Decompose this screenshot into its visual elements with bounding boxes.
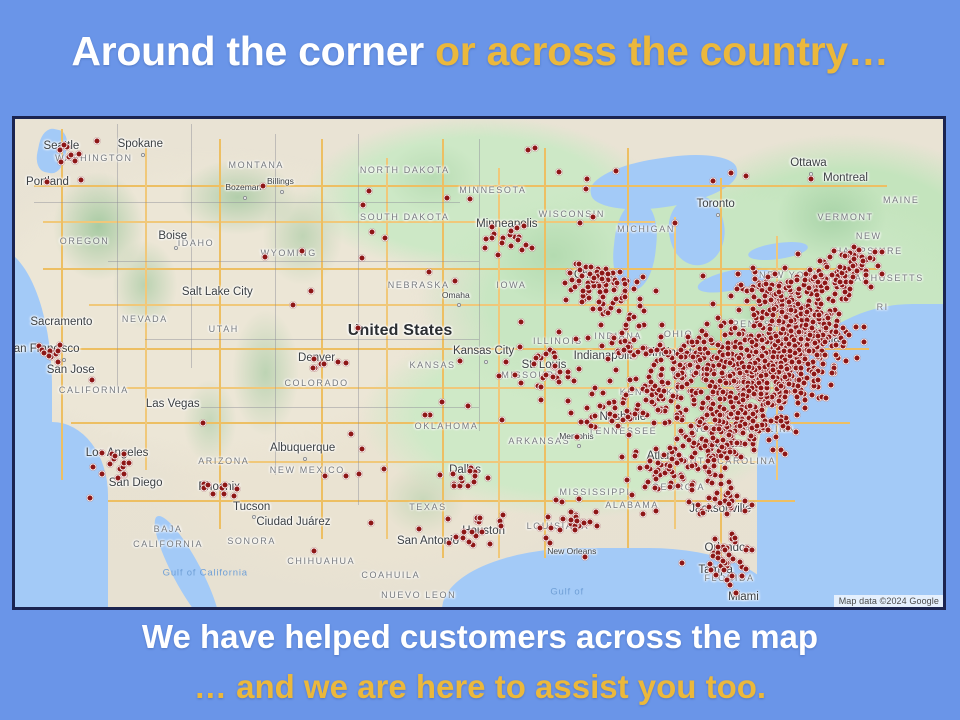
customer-pin — [653, 288, 660, 295]
customer-pin — [613, 366, 620, 373]
customer-pin — [742, 507, 749, 514]
customer-pin — [717, 322, 724, 329]
customer-pin — [737, 423, 744, 430]
customer-pin — [840, 338, 847, 345]
google-map[interactable]: WASHINGTONOREGONIDAHOMONTANAWYOMINGNEVAD… — [15, 119, 943, 607]
customer-pin — [556, 368, 563, 375]
customer-pin — [674, 404, 681, 411]
customer-pin — [645, 478, 652, 485]
customer-pin — [648, 398, 655, 405]
customer-pin — [657, 342, 664, 349]
customer-pin — [713, 355, 720, 362]
customer-pin — [853, 355, 860, 362]
customer-pin — [641, 308, 648, 315]
customer-pin — [782, 393, 789, 400]
customer-pin — [634, 349, 641, 356]
customer-pin — [581, 553, 588, 560]
customer-pin — [711, 536, 718, 543]
customer-pin — [815, 376, 822, 383]
customer-pin — [822, 324, 829, 331]
customer-pin — [712, 572, 719, 579]
customer-pin — [675, 452, 682, 459]
customer-pin — [813, 291, 820, 298]
customer-pin — [749, 286, 756, 293]
customer-pin — [710, 457, 717, 464]
customer-pin — [750, 264, 757, 271]
customer-pin — [261, 254, 268, 261]
customer-pin — [521, 222, 528, 229]
customer-pin — [636, 296, 643, 303]
customer-pin — [723, 455, 730, 462]
customer-pin — [748, 433, 755, 440]
customer-pin — [673, 460, 680, 467]
customer-pin — [426, 268, 433, 275]
customer-pin — [644, 387, 651, 394]
customer-pin — [795, 301, 802, 308]
customer-pin — [320, 360, 327, 367]
customer-pin — [726, 359, 733, 366]
customer-pin — [687, 422, 694, 429]
customer-pin — [686, 498, 693, 505]
customer-pin — [878, 271, 885, 278]
customer-pin — [792, 388, 799, 395]
customer-pin — [721, 567, 728, 574]
customer-pin — [592, 384, 599, 391]
customer-pin — [719, 557, 726, 564]
customer-pin — [452, 278, 459, 285]
customer-pin — [696, 357, 703, 364]
customer-pin — [702, 443, 709, 450]
customer-pin — [717, 396, 724, 403]
customer-pin — [710, 435, 717, 442]
customer-pin — [674, 414, 681, 421]
customer-pin — [816, 311, 823, 318]
customer-pin — [613, 168, 620, 175]
customer-pin — [762, 280, 769, 287]
customer-pin — [715, 314, 722, 321]
customer-pin — [524, 146, 531, 153]
customer-pin — [657, 393, 664, 400]
customer-pin — [778, 308, 785, 315]
customer-pin — [576, 277, 583, 284]
customer-pin — [796, 286, 803, 293]
customer-pin — [484, 474, 491, 481]
customer-pin — [555, 168, 562, 175]
customer-pin — [773, 332, 780, 339]
customer-pin — [611, 413, 618, 420]
customer-pin — [821, 351, 828, 358]
customer-pin — [786, 347, 793, 354]
customer-pin — [583, 404, 590, 411]
customer-pin — [575, 260, 582, 267]
customer-pin — [636, 322, 643, 329]
customer-pin — [77, 177, 84, 184]
customer-pin — [577, 220, 584, 227]
customer-pin — [488, 224, 495, 231]
customer-pin — [642, 396, 649, 403]
customer-pin — [543, 534, 550, 541]
customer-pin — [734, 439, 741, 446]
customer-pin — [815, 333, 822, 340]
customer-pin — [702, 464, 709, 471]
customer-pin — [517, 380, 524, 387]
customer-pin — [767, 296, 774, 303]
customer-pin — [745, 353, 752, 360]
customer-pin — [875, 262, 882, 269]
customer-pin — [555, 329, 562, 336]
customer-pin — [827, 254, 834, 261]
customer-pin — [786, 299, 793, 306]
customer-pin — [107, 461, 114, 468]
customer-pin — [778, 418, 785, 425]
customer-pin — [809, 319, 816, 326]
customer-pin — [234, 486, 241, 493]
customer-pin — [598, 322, 605, 329]
customer-pin — [806, 267, 813, 274]
customer-pin — [335, 359, 342, 366]
customer-pin — [742, 566, 749, 573]
customer-pin — [651, 420, 658, 427]
customer-pin — [453, 534, 460, 541]
customer-pin — [748, 547, 755, 554]
page-title: Around the corner or across the country… — [0, 28, 960, 75]
customer-pin — [507, 243, 514, 250]
customer-pin — [644, 463, 651, 470]
customer-pin — [342, 359, 349, 366]
customer-pin — [606, 377, 613, 384]
customer-pin — [752, 275, 759, 282]
customer-pin — [741, 497, 748, 504]
customer-pin — [813, 351, 820, 358]
customer-pin — [494, 251, 501, 258]
title-part-white: Around the corner — [71, 28, 435, 74]
customer-pin — [798, 371, 805, 378]
customer-pin — [55, 348, 62, 355]
customer-pin — [879, 248, 886, 255]
customer-pin — [437, 471, 444, 478]
customer-pin — [827, 382, 834, 389]
customer-pin — [737, 344, 744, 351]
customer-pin — [613, 280, 620, 287]
customer-pin — [757, 373, 764, 380]
customer-pin — [561, 280, 568, 287]
customer-pin — [627, 376, 634, 383]
customer-pin — [567, 270, 574, 277]
customer-pin — [689, 339, 696, 346]
customer-pin — [732, 534, 739, 541]
customer-pin — [725, 350, 732, 357]
customer-pin — [748, 339, 755, 346]
customer-pin — [347, 431, 354, 438]
caption-primary: We have helped customers across the map — [0, 618, 960, 656]
customer-pin — [842, 289, 849, 296]
customer-pin — [685, 436, 692, 443]
customer-pin — [786, 380, 793, 387]
customer-pin — [794, 411, 801, 418]
customer-pin — [416, 526, 423, 533]
customer-pin — [599, 275, 606, 282]
customer-pin — [597, 403, 604, 410]
customer-pin — [842, 252, 849, 259]
customer-pin — [788, 307, 795, 314]
customer-pin — [568, 277, 575, 284]
customer-pin — [803, 308, 810, 315]
customer-pin — [687, 361, 694, 368]
customer-pin — [664, 379, 671, 386]
customer-pin — [543, 351, 550, 358]
customer-pin — [98, 449, 105, 456]
customer-pin — [655, 406, 662, 413]
customer-pin — [533, 355, 540, 362]
customer-pin — [565, 369, 572, 376]
customer-pin — [659, 366, 666, 373]
customer-pin — [121, 450, 128, 457]
customer-pin — [584, 334, 591, 341]
customer-pin — [849, 262, 856, 269]
customer-pin — [801, 379, 808, 386]
customer-pin — [795, 359, 802, 366]
customer-pin — [500, 511, 507, 518]
customer-pin — [307, 288, 314, 295]
customer-pin — [93, 138, 100, 145]
customer-pin — [684, 380, 691, 387]
customer-pin — [721, 464, 728, 471]
customer-pin — [589, 391, 596, 398]
customer-pin — [761, 358, 768, 365]
customer-pin — [555, 379, 562, 386]
customer-pin — [797, 336, 804, 343]
customer-pin — [517, 318, 524, 325]
customer-pin — [359, 254, 366, 261]
customer-pin — [311, 355, 318, 362]
customer-pin — [727, 292, 734, 299]
customer-pin — [717, 499, 724, 506]
customer-pin — [691, 440, 698, 447]
customer-pin — [567, 409, 574, 416]
customer-pin — [667, 462, 674, 469]
customer-pin — [726, 448, 733, 455]
customer-pin — [209, 490, 216, 497]
customer-pin — [648, 379, 655, 386]
customer-pin — [749, 305, 756, 312]
customer-pin — [771, 306, 778, 313]
customer-pin — [611, 335, 618, 342]
customer-pin — [564, 397, 571, 404]
customer-pin — [446, 540, 453, 547]
customer-pin — [625, 414, 632, 421]
customer-pin — [87, 495, 94, 502]
customer-pin — [718, 473, 725, 480]
customer-pin — [727, 410, 734, 417]
customer-pin — [662, 349, 669, 356]
customer-pin — [699, 328, 706, 335]
customer-pin — [677, 361, 684, 368]
customer-pin — [600, 389, 607, 396]
customer-pin — [464, 402, 471, 409]
customer-pin — [617, 269, 624, 276]
customer-pin — [631, 337, 638, 344]
customer-pin — [367, 520, 374, 527]
customer-pin — [514, 237, 521, 244]
customer-pin — [866, 254, 873, 261]
customer-pin — [499, 416, 506, 423]
customer-pin — [652, 445, 659, 452]
customer-pin — [737, 370, 744, 377]
customer-pin — [691, 396, 698, 403]
customer-pin — [575, 366, 582, 373]
customer-pin — [628, 491, 635, 498]
customer-pin — [619, 399, 626, 406]
customer-pin — [512, 371, 519, 378]
customer-pin — [537, 525, 544, 532]
customer-pin — [605, 270, 612, 277]
customer-pin — [740, 396, 747, 403]
customer-pin — [726, 432, 733, 439]
customer-pin — [557, 527, 564, 534]
customer-pin — [120, 470, 127, 477]
customer-pin — [775, 289, 782, 296]
customer-pin — [571, 284, 578, 291]
customer-pin — [787, 328, 794, 335]
customer-pin — [822, 338, 829, 345]
customer-pin — [734, 410, 741, 417]
customer-location-pins — [15, 119, 943, 607]
customer-pin — [544, 513, 551, 520]
customer-pin — [833, 352, 840, 359]
customer-pin — [724, 510, 731, 517]
customer-pin — [342, 472, 349, 479]
customer-pin — [634, 402, 641, 409]
customer-pin — [802, 397, 809, 404]
customer-pin — [311, 548, 318, 555]
customer-pin — [445, 516, 452, 523]
customer-pin — [590, 274, 597, 281]
customer-pin — [868, 283, 875, 290]
customer-pin — [466, 538, 473, 545]
customer-pin — [98, 470, 105, 477]
customer-pin — [499, 240, 506, 247]
customer-pin — [632, 453, 639, 460]
customer-pin — [660, 451, 667, 458]
customer-pin — [707, 567, 714, 574]
customer-pin — [725, 501, 732, 508]
customer-pin — [689, 487, 696, 494]
customer-pin — [735, 271, 742, 278]
customer-pin — [259, 182, 266, 189]
customer-pin — [661, 419, 668, 426]
customer-pin — [747, 403, 754, 410]
customer-pin — [710, 177, 717, 184]
customer-pin — [699, 400, 706, 407]
customer-pin — [811, 340, 818, 347]
customer-pin — [653, 476, 660, 483]
customer-pin — [707, 383, 714, 390]
customer-pin — [722, 380, 729, 387]
customer-pin — [715, 425, 722, 432]
customer-pin — [688, 463, 695, 470]
customer-pin — [704, 457, 711, 464]
customer-pin — [692, 449, 699, 456]
customer-pin — [766, 286, 773, 293]
customer-pin — [614, 423, 621, 430]
customer-pin — [532, 144, 539, 151]
customer-pin — [650, 361, 657, 368]
customer-pin — [811, 370, 818, 377]
customer-pin — [610, 287, 617, 294]
customer-pin — [450, 471, 457, 478]
customer-pin — [808, 175, 815, 182]
customer-pin — [55, 359, 62, 366]
customer-pin — [771, 270, 778, 277]
customer-pin — [592, 412, 599, 419]
customer-pin — [823, 284, 830, 291]
customer-pin — [755, 297, 762, 304]
customer-pin — [444, 194, 451, 201]
customer-pin — [781, 450, 788, 457]
customer-pin — [794, 399, 801, 406]
customer-pin — [780, 325, 787, 332]
customer-pin — [76, 150, 83, 157]
customer-pin — [736, 331, 743, 338]
customer-pin — [582, 185, 589, 192]
customer-pin — [576, 267, 583, 274]
customer-pin — [619, 330, 626, 337]
customer-pin — [833, 323, 840, 330]
customer-pin — [860, 323, 867, 330]
customer-pin — [802, 322, 809, 329]
customer-pin — [517, 344, 524, 351]
customer-pin — [794, 276, 801, 283]
customer-pin — [829, 369, 836, 376]
customer-pin — [696, 418, 703, 425]
customer-pin — [742, 441, 749, 448]
customer-pin — [802, 404, 809, 411]
customer-pin — [706, 503, 713, 510]
customer-pin — [497, 522, 504, 529]
map-container[interactable]: WASHINGTONOREGONIDAHOMONTANAWYOMINGNEVAD… — [12, 116, 946, 610]
customer-pin — [677, 395, 684, 402]
customer-pin — [204, 482, 211, 489]
customer-pin — [559, 498, 566, 505]
customer-pin — [693, 370, 700, 377]
customer-pin — [734, 286, 741, 293]
customer-pin — [230, 493, 237, 500]
customer-pin — [727, 373, 734, 380]
customer-pin — [309, 365, 316, 372]
customer-pin — [222, 482, 229, 489]
customer-pin — [717, 453, 724, 460]
customer-pin — [587, 263, 594, 270]
customer-pin — [745, 387, 752, 394]
customer-pin — [487, 541, 494, 548]
customer-pin — [620, 347, 627, 354]
customer-pin — [695, 501, 702, 508]
customer-pin — [299, 247, 306, 254]
customer-pin — [757, 390, 764, 397]
customer-pin — [700, 272, 707, 279]
customer-pin — [457, 357, 464, 364]
customer-pin — [355, 324, 362, 331]
customer-pin — [743, 297, 750, 304]
customer-pin — [708, 480, 715, 487]
customer-pin — [659, 321, 666, 328]
customer-pin — [355, 470, 362, 477]
customer-pin — [836, 263, 843, 270]
customer-pin — [537, 396, 544, 403]
customer-pin — [823, 263, 830, 270]
customer-pin — [60, 142, 67, 149]
customer-pin — [721, 332, 728, 339]
